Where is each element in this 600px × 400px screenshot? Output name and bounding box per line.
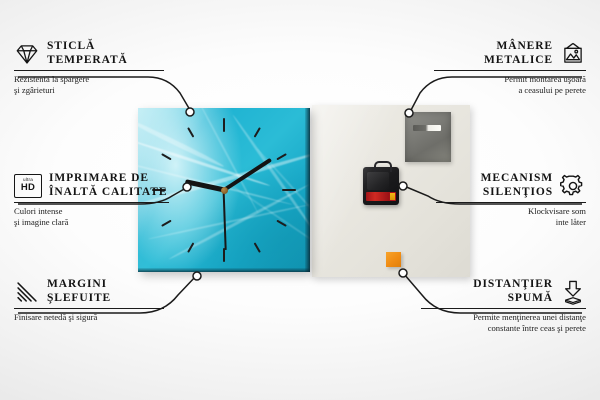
- hour-tick: [282, 189, 296, 191]
- callout-title: MARGINI ŞLEFUITE: [47, 278, 111, 305]
- picture-frame-hanger-icon: [560, 41, 586, 67]
- diamond-icon: [14, 41, 40, 67]
- clock-mechanism-box: [363, 167, 399, 205]
- callout-title: STICLĂ TEMPERATĂ: [47, 40, 128, 67]
- callout-divider: [436, 202, 586, 203]
- hour-tick: [161, 153, 172, 160]
- callout-silent-mech: MECANISM SILENŢIOS Klockvisare som inte …: [436, 172, 586, 227]
- callout-divider: [434, 70, 586, 71]
- infographic-stage: STICLĂ TEMPERATĂ Rezistentă la spargere …: [0, 0, 600, 400]
- foam-spacer-square: [386, 252, 401, 267]
- clock-minute-hand: [223, 158, 272, 192]
- clock-second-hand: [223, 190, 227, 250]
- hour-tick: [276, 220, 287, 227]
- callout-divider: [421, 308, 586, 309]
- arrow-down-pad-icon: [560, 279, 586, 305]
- mechanism-hanging-loop: [374, 161, 392, 172]
- callout-foam-spacer: DISTANŢIER SPUMĂ Permite menţinerea unei…: [421, 278, 586, 333]
- hour-tick: [223, 118, 225, 132]
- callout-subtitle: Finisare netedă şi sigură: [14, 312, 164, 323]
- callout-header: STICLĂ TEMPERATĂ: [14, 40, 164, 67]
- callout-subtitle: Permit montarea uşoară a ceasului pe per…: [434, 74, 586, 95]
- hanger-keyhole-slot: [413, 125, 441, 131]
- callout-header: DISTANŢIER SPUMĂ: [421, 278, 586, 305]
- callout-title: DISTANŢIER SPUMĂ: [473, 278, 553, 305]
- glass-right-edge: [305, 108, 310, 272]
- clock-center-hub: [221, 187, 228, 194]
- ultra-hd-icon: ultra HD: [14, 174, 42, 198]
- callout-divider: [14, 202, 169, 203]
- callout-metal-hangers: MÂNERE METALICE Permit montarea uşoară a…: [434, 40, 586, 95]
- glass-bottom-edge: [138, 268, 310, 272]
- callout-title: MECANISM SILENŢIOS: [481, 172, 553, 199]
- clock-hour-hand: [184, 179, 224, 192]
- callout-subtitle: Permite menţinerea unei distanţe constan…: [421, 312, 586, 333]
- callout-tempered-glass: STICLĂ TEMPERATĂ Rezistentă la spargere …: [14, 40, 164, 95]
- callout-subtitle: Rezistentă la spargere şi zgârieturi: [14, 74, 164, 95]
- callout-header: ultra HD IMPRIMARE DE ÎNALTĂ CALITATE: [14, 172, 169, 199]
- callout-subtitle: Klockvisare som inte låter: [436, 206, 586, 227]
- gear-icon: [560, 173, 586, 199]
- hour-tick: [276, 153, 287, 160]
- hour-tick: [187, 127, 194, 138]
- polished-edge-icon: [14, 279, 40, 305]
- callout-polished-edges: MARGINI ŞLEFUITE Finisare netedă şi sigu…: [14, 278, 164, 323]
- battery: [366, 192, 396, 201]
- hour-tick: [223, 248, 225, 262]
- callout-header: MECANISM SILENŢIOS: [436, 172, 586, 199]
- mechanism-highlight: [367, 172, 389, 190]
- callout-divider: [14, 70, 164, 71]
- hour-tick: [254, 127, 261, 138]
- callout-title: IMPRIMARE DE ÎNALTĂ CALITATE: [49, 172, 167, 199]
- hour-tick: [187, 242, 194, 253]
- callout-header: MÂNERE METALICE: [434, 40, 586, 67]
- callout-header: MARGINI ŞLEFUITE: [14, 278, 164, 305]
- ultra-hd-icon-main-label: HD: [21, 183, 35, 193]
- callout-title: MÂNERE METALICE: [484, 40, 553, 67]
- callout-divider: [14, 308, 164, 309]
- metal-hanger-plate: [405, 112, 451, 162]
- callout-hd-print: ultra HD IMPRIMARE DE ÎNALTĂ CALITATE Cu…: [14, 172, 169, 227]
- callout-subtitle: Culori intense şi imagine clară: [14, 206, 169, 227]
- hour-tick: [254, 242, 261, 253]
